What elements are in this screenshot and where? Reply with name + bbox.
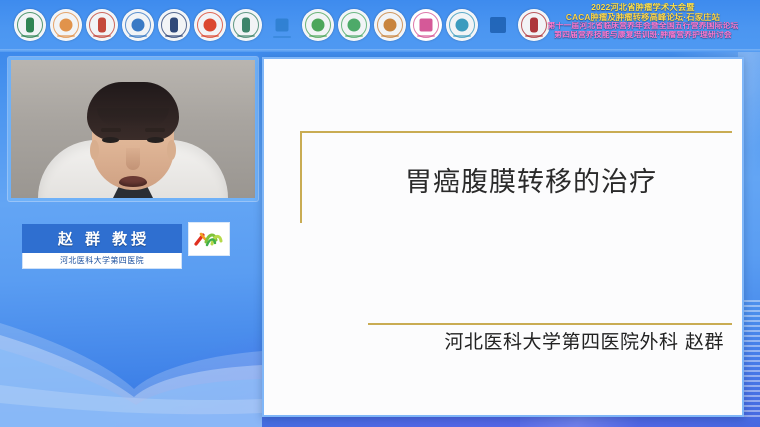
logo-tick <box>273 36 291 38</box>
logo-tick <box>453 35 471 37</box>
conference-title-line-1: 2022河北省肿瘤学术大会暨 <box>535 3 750 13</box>
logo-9th-anniversary-icon <box>410 9 442 41</box>
logo-tick <box>309 35 327 37</box>
speaker-name: 赵 群 教授 <box>22 224 182 253</box>
logo-hebei-cancer-hospital-icon <box>158 9 190 41</box>
logo-nutrition-alliance-icon <box>194 9 226 41</box>
logo-tick <box>93 35 111 37</box>
logo-core <box>132 19 145 32</box>
logo-core <box>384 19 397 32</box>
speaker-eye-left <box>102 137 119 143</box>
decorative-edge-stripes <box>742 300 760 420</box>
speaker-ear-right <box>167 140 176 160</box>
brush-logo-icon <box>188 222 230 256</box>
logo-tick <box>165 35 183 37</box>
presentation-slide[interactable]: 胃癌腹膜转移的治疗 河北医科大学第四医院外科 赵群 <box>262 57 744 417</box>
logo-core <box>242 18 250 33</box>
logo-cancer-foundation-icon <box>374 9 406 41</box>
speaker-brow-right <box>145 128 165 132</box>
logo-core <box>490 17 506 33</box>
conference-title-block: 2022河北省肿瘤学术大会暨 CACA肿瘤及肿瘤转移高峰论坛·石家庄站 第十一届… <box>532 3 754 40</box>
logo-core <box>204 19 217 32</box>
speaker-webcam-feed[interactable] <box>11 60 255 198</box>
speaker-ear-left <box>90 140 99 160</box>
logo-health-commission-icon <box>302 9 334 41</box>
sponsor-logo-row <box>14 9 550 41</box>
speaker-mouth <box>119 176 147 187</box>
logo-tick <box>129 35 147 37</box>
logo-cross-hospital-icon <box>446 9 478 41</box>
logo-tick <box>57 35 75 37</box>
logo-core <box>420 19 433 32</box>
logo-tick <box>381 35 399 37</box>
logo-core <box>276 19 289 32</box>
speaker-eye-right <box>147 137 164 143</box>
logo-tick <box>237 35 255 37</box>
slide-author-gold-rule <box>368 323 732 325</box>
logo-core <box>456 19 469 32</box>
speaker-name-banner: 赵 群 教授 河北医科大学第四医院 <box>22 224 182 269</box>
speaker-nose <box>126 148 140 170</box>
slide-author: 河北医科大学第四医院外科 赵群 <box>368 327 730 354</box>
presentation-stage: 2022河北省肿瘤学术大会暨 CACA肿瘤及肿瘤转移高峰论坛·石家庄站 第十一届… <box>0 0 760 427</box>
logo-core <box>98 18 106 33</box>
logo-hebei-fourth-hospital-icon <box>482 9 514 41</box>
logo-tick <box>417 35 435 37</box>
speaker-affiliation: 河北医科大学第四医院 <box>22 253 182 269</box>
conference-title-line-2: CACA肿瘤及肿瘤转移高峰论坛·石家庄站 <box>535 13 750 23</box>
logo-hebei-medical-society-icon <box>50 9 82 41</box>
logo-oncology-branch-icon <box>122 9 154 41</box>
logo-green-nutrition-icon <box>338 9 370 41</box>
logo-tick <box>21 35 39 37</box>
logo-core <box>60 19 73 32</box>
logo-core <box>312 19 325 32</box>
conference-header-bar: 2022河北省肿瘤学术大会暨 CACA肿瘤及肿瘤转移高峰论坛·石家庄站 第十一届… <box>0 0 760 52</box>
conference-title-line-3: 第十一届河北省临床营养年会暨全国五行营养国际论坛 <box>535 22 750 31</box>
logo-tick <box>201 35 219 37</box>
logo-tick <box>345 35 363 37</box>
conference-title-line-4: 第四届营养技能与康复培训班·肿瘤营养护理研讨会 <box>535 31 750 40</box>
logo-medical-university-icon <box>230 9 262 41</box>
logo-china-anti-cancer-association-icon <box>14 9 46 41</box>
decorative-wave-graphic <box>0 277 262 427</box>
logo-clinical-nutrition-society-icon <box>86 9 118 41</box>
logo-core <box>348 19 361 32</box>
slide-title: 胃癌腹膜转移的治疗 <box>300 133 732 225</box>
speaker-brow-left <box>101 128 121 132</box>
logo-rehabilitation-society-icon <box>266 9 298 41</box>
speaker-video-panel[interactable] <box>8 57 258 201</box>
logo-core <box>170 18 178 33</box>
logo-core <box>26 18 34 33</box>
